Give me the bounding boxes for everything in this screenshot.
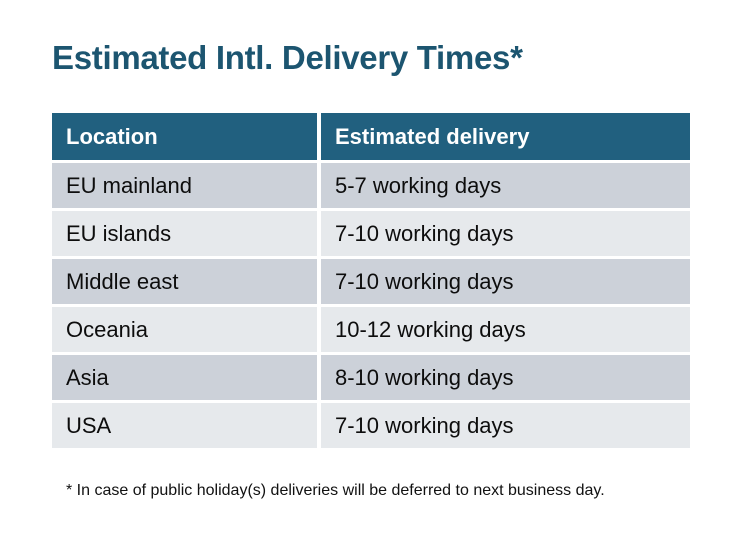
- cell-delivery: 8-10 working days: [321, 355, 690, 400]
- table-row: USA 7-10 working days: [52, 403, 690, 448]
- footnote-text: * In case of public holiday(s) deliverie…: [66, 480, 605, 502]
- cell-delivery: 7-10 working days: [321, 259, 690, 304]
- column-header-location: Location: [52, 113, 317, 160]
- table-row: EU mainland 5-7 working days: [52, 163, 690, 208]
- cell-location: Middle east: [52, 259, 317, 304]
- cell-delivery: 5-7 working days: [321, 163, 690, 208]
- table-row: EU islands 7-10 working days: [52, 211, 690, 256]
- page-title: Estimated Intl. Delivery Times*: [52, 38, 523, 78]
- cell-location: EU islands: [52, 211, 317, 256]
- cell-delivery: 7-10 working days: [321, 211, 690, 256]
- delivery-times-page: Estimated Intl. Delivery Times* Location…: [0, 0, 745, 536]
- cell-location: Oceania: [52, 307, 317, 352]
- table-row: Oceania 10-12 working days: [52, 307, 690, 352]
- cell-location: USA: [52, 403, 317, 448]
- table-row: Middle east 7-10 working days: [52, 259, 690, 304]
- cell-location: EU mainland: [52, 163, 317, 208]
- cell-delivery: 7-10 working days: [321, 403, 690, 448]
- cell-delivery: 10-12 working days: [321, 307, 690, 352]
- table-row: Asia 8-10 working days: [52, 355, 690, 400]
- delivery-times-table: Location Estimated delivery EU mainland …: [52, 113, 690, 448]
- cell-location: Asia: [52, 355, 317, 400]
- column-header-estimated-delivery: Estimated delivery: [321, 113, 690, 160]
- table-header-row: Location Estimated delivery: [52, 113, 690, 160]
